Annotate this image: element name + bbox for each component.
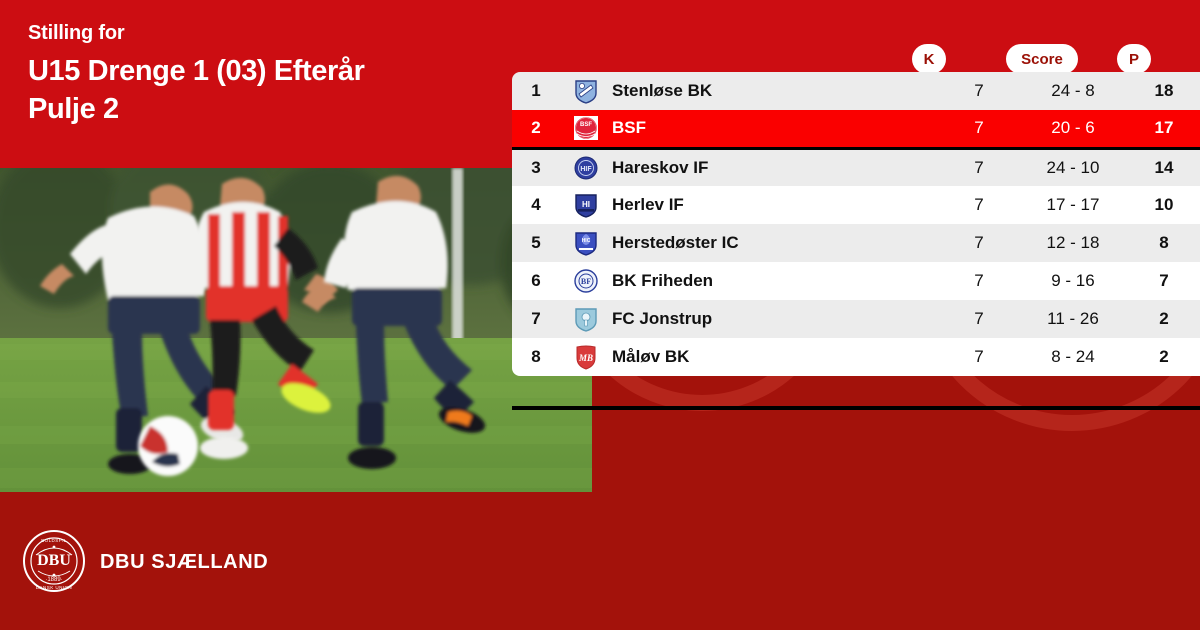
svg-text:·1889·: ·1889·: [45, 577, 62, 583]
row-matches: 7: [940, 186, 1018, 224]
svg-text:HIF: HIF: [580, 166, 592, 173]
kicker-text: Stilling for: [28, 18, 498, 48]
row-team-name: Herstedøster IC: [612, 224, 940, 262]
row-matches: 7: [940, 72, 1018, 110]
title-block: Stilling for U15 Drenge 1 (03) Efterår P…: [28, 18, 498, 128]
standings-table-body: 1 Stenløse BK724 - 8182 BSF BSF720 - 617…: [512, 72, 1200, 376]
table-row[interactable]: 1 Stenløse BK724 - 818: [512, 72, 1200, 110]
row-team-name: FC Jonstrup: [612, 300, 940, 338]
row-team-name: Måløv BK: [612, 338, 940, 376]
row-team-name: Hareskov IF: [612, 148, 940, 186]
column-badge-score: Score: [1006, 44, 1078, 74]
page-title: U15 Drenge 1 (03) Efterår Pulje 2: [28, 52, 498, 128]
table-row[interactable]: 7 FC Jonstrup711 - 262: [512, 300, 1200, 338]
stenlose-bk-crest: [560, 72, 612, 110]
table-row[interactable]: 2 BSF BSF720 - 617: [512, 110, 1200, 148]
svg-text:DANSK UNION: DANSK UNION: [36, 585, 72, 590]
hareskov-if-crest: HIF: [560, 148, 612, 186]
row-position: 4: [512, 186, 560, 224]
table-row[interactable]: 6 BFBK Friheden79 - 167: [512, 262, 1200, 300]
column-badge-p: P: [1117, 44, 1151, 74]
fc-jonstrup-crest: [560, 300, 612, 338]
row-team-name: BSF: [612, 110, 940, 148]
row-score: 24 - 10: [1018, 148, 1128, 186]
svg-text:MB: MB: [578, 353, 593, 363]
row-position: 2: [512, 110, 560, 148]
row-score: 8 - 24: [1018, 338, 1128, 376]
row-points: 10: [1128, 186, 1200, 224]
herlev-if-crest: HI: [560, 186, 612, 224]
row-matches: 7: [940, 338, 1018, 376]
row-position: 3: [512, 148, 560, 186]
footer: DBU ·1889· BOLDSPIL DANSK UNION DBU SJÆL…: [0, 492, 1200, 630]
row-team-name: Stenløse BK: [612, 72, 940, 110]
table-row[interactable]: 8 MBMåløv BK78 - 242: [512, 338, 1200, 376]
row-position: 7: [512, 300, 560, 338]
table-row[interactable]: 5 HIC Herstedøster IC712 - 188: [512, 224, 1200, 262]
divider-rule: [512, 406, 1200, 410]
row-position: 8: [512, 338, 560, 376]
row-score: 17 - 17: [1018, 186, 1128, 224]
row-matches: 7: [940, 110, 1018, 148]
row-points: 14: [1128, 148, 1200, 186]
row-points: 8: [1128, 224, 1200, 262]
row-score: 24 - 8: [1018, 72, 1128, 110]
match-photo: [0, 168, 592, 492]
row-position: 1: [512, 72, 560, 110]
row-points: 7: [1128, 262, 1200, 300]
svg-text:HI: HI: [582, 200, 590, 209]
dbu-logo: DBU ·1889· BOLDSPIL DANSK UNION: [22, 529, 86, 593]
row-score: 12 - 18: [1018, 224, 1128, 262]
row-matches: 7: [940, 224, 1018, 262]
bsf-crest: BSF: [560, 110, 612, 148]
table-row[interactable]: 4 HI Herlev IF717 - 1710: [512, 186, 1200, 224]
row-points: 18: [1128, 72, 1200, 110]
row-matches: 7: [940, 148, 1018, 186]
row-score: 20 - 6: [1018, 110, 1128, 148]
table-header-badges: K Score P: [512, 44, 1200, 74]
page-title-line2: Pulje 2: [28, 90, 498, 128]
svg-text:BSF: BSF: [580, 122, 592, 128]
row-matches: 7: [940, 300, 1018, 338]
poster-canvas: Stilling for U15 Drenge 1 (03) Efterår P…: [0, 0, 1200, 630]
row-score: 11 - 26: [1018, 300, 1128, 338]
table-row[interactable]: 3 HIFHareskov IF724 - 1014: [512, 148, 1200, 186]
malov-bk-crest: MB: [560, 338, 612, 376]
svg-text:BOLDSPIL: BOLDSPIL: [41, 538, 67, 543]
organisation-name: DBU SJÆLLAND: [100, 551, 268, 574]
row-team-name: Herlev IF: [612, 186, 940, 224]
standings-table-wrapper: 1 Stenløse BK724 - 8182 BSF BSF720 - 617…: [512, 72, 1200, 376]
column-badge-k: K: [912, 44, 946, 74]
row-score: 9 - 16: [1018, 262, 1128, 300]
row-position: 5: [512, 224, 560, 262]
svg-text:HIC: HIC: [582, 238, 591, 244]
standings-table: 1 Stenløse BK724 - 8182 BSF BSF720 - 617…: [512, 72, 1200, 376]
row-points: 2: [1128, 338, 1200, 376]
row-points: 2: [1128, 300, 1200, 338]
svg-text:BF: BF: [581, 277, 591, 286]
row-team-name: BK Friheden: [612, 262, 940, 300]
herstedoster-ic-crest: HIC: [560, 224, 612, 262]
svg-text:DBU: DBU: [37, 552, 71, 569]
bk-friheden-crest: BF: [560, 262, 612, 300]
row-position: 6: [512, 262, 560, 300]
row-points: 17: [1128, 110, 1200, 148]
row-matches: 7: [940, 262, 1018, 300]
page-title-line1: U15 Drenge 1 (03) Efterår: [28, 52, 498, 90]
